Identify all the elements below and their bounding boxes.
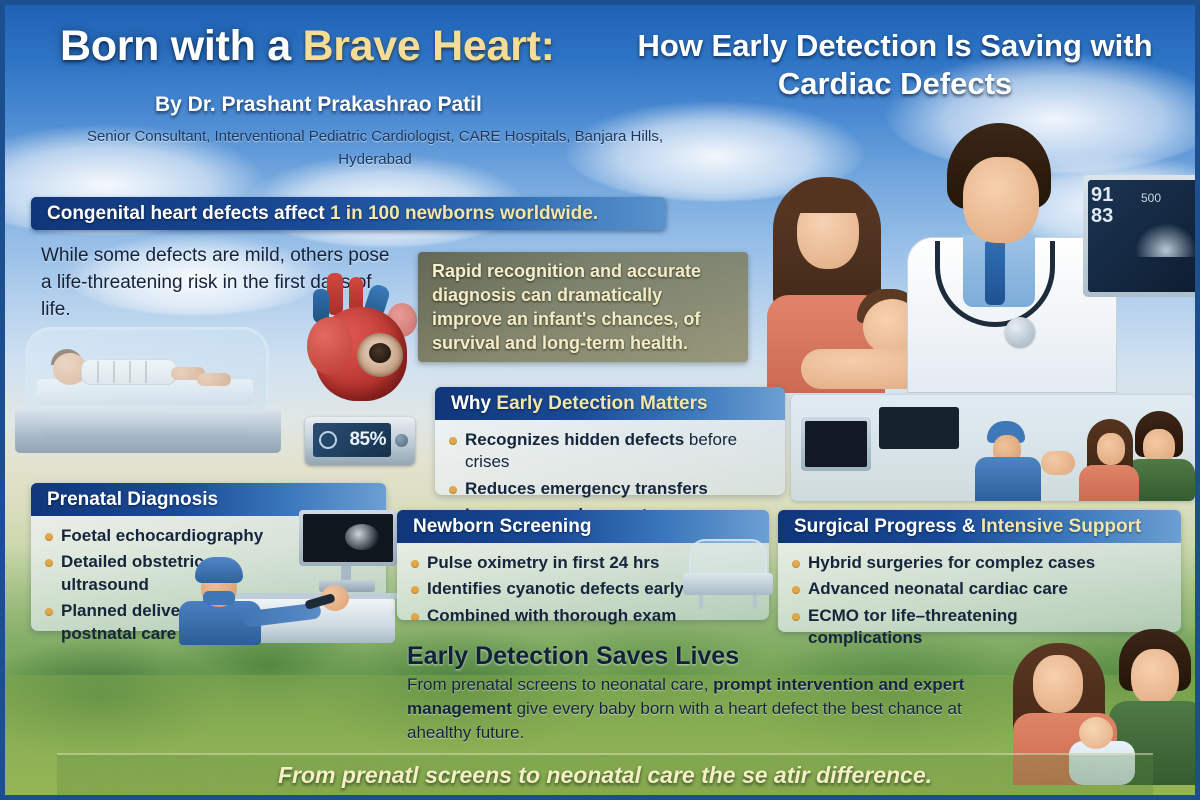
list-item: Reduces emergency transfers — [449, 478, 773, 500]
nicu-monitor-screen — [805, 421, 867, 467]
vitals-readouts: 91 83 — [1091, 185, 1113, 227]
surgical-mask-icon — [203, 591, 235, 605]
baby-head — [1079, 717, 1113, 749]
oximeter-screen: 85% — [313, 423, 391, 457]
saves-part1: From prenatal screens to neonatal care, — [407, 675, 713, 694]
oximeter-knob[interactable] — [395, 434, 408, 447]
mother-hair-front — [789, 179, 867, 213]
footer-text: From prenatl screens to neonatal care th… — [278, 762, 932, 789]
vitals-monitor: 91 83 500 — [1083, 175, 1200, 297]
bullet-dot-icon — [45, 559, 53, 567]
stat-part1: Congenital heart defects affect — [47, 203, 330, 224]
oximeter-value: 85% — [349, 429, 386, 451]
list-item: Recognizes hidden defects before crises — [449, 429, 773, 474]
surgical-progress-panel: Surgical Progress & Intensive Support Hy… — [778, 510, 1181, 632]
septal-defect-hole — [369, 343, 391, 363]
newborn-incubator-illustration — [683, 535, 775, 613]
incubator-illustration — [11, 327, 296, 457]
doctor-face — [963, 157, 1039, 243]
author-credentials: Senior Consultant, Interventional Pediat… — [65, 125, 685, 172]
surgical-title-plain: Surgical Progress & — [794, 516, 981, 537]
newborn-panel-title: Newborn Screening — [397, 516, 591, 538]
title-secondary: How Early Detection Is Saving with Cardi… — [635, 27, 1155, 103]
bullet-dot-icon — [411, 613, 419, 621]
vitals-aux-value: 500 — [1141, 191, 1161, 205]
title-main-accent: Brave Heart: — [302, 22, 554, 70]
nicu-scene-illustration — [791, 395, 1195, 501]
father-face — [1131, 649, 1179, 705]
anatomical-heart-illustration — [301, 273, 419, 405]
why-panel-header: Why Early Detection Matters — [435, 387, 785, 420]
rapid-recognition-callout: Rapid recognition and accurate diagnosis… — [418, 252, 748, 362]
surgical-cap-icon — [195, 557, 243, 583]
vitals-top-value: 91 — [1091, 185, 1113, 206]
incubator-dome — [25, 327, 269, 409]
why-title-accent: Early Detection Matters — [496, 393, 707, 414]
nicu-baby — [1041, 451, 1075, 475]
aorta-vessel — [327, 273, 343, 315]
bullet-dot-icon — [449, 437, 457, 445]
why-title-plain: Why — [451, 393, 496, 414]
nicu-mother-face — [1097, 433, 1125, 465]
list-item: Hybrid surgeries for complez cases — [792, 552, 1169, 574]
surgical-panel-header: Surgical Progress & Intensive Support — [778, 510, 1181, 543]
bullet-text: ECMO tor life–threatening complications — [808, 605, 1033, 650]
bullet-text: Hybrid surgeries for complez cases — [808, 552, 1095, 574]
stat-banner-text: Congenital heart defects affect 1 in 100… — [31, 203, 598, 225]
stat-highlight: 1 in 100 — [330, 203, 400, 224]
bullet-dot-icon — [792, 613, 800, 621]
bullet-dot-icon — [411, 586, 419, 594]
nicu-monitor — [801, 417, 871, 471]
stat-banner: Congenital heart defects affect 1 in 100… — [31, 197, 666, 230]
saves-lives-body: From prenatal screens to neonatal care, … — [407, 673, 1007, 745]
surgical-title-accent: Intensive Support — [981, 516, 1141, 537]
small-incubator-base — [683, 573, 773, 595]
title-main-white: Born with a — [60, 22, 302, 70]
bullet-bold: Recognizes hidden defects — [465, 430, 684, 449]
nicu-wall-monitor — [879, 407, 959, 449]
saves-lives-title: Early Detection Saves Lives — [407, 642, 739, 671]
why-panel-title: Why Early Detection Matters — [435, 393, 708, 415]
bullet-dot-icon — [792, 560, 800, 568]
vitals-bottom-value: 83 — [1091, 206, 1113, 227]
sonographer-scene-illustration — [173, 553, 398, 645]
prenatal-panel-title: Prenatal Diagnosis — [31, 489, 218, 511]
author-byline: By Dr. Prashant Prakashrao Patil — [155, 93, 482, 117]
bullet-text: Foetal echocardiography — [61, 525, 263, 547]
stat-part2: newborns worldwide. — [400, 203, 598, 224]
bullet-text: Pulse oximetry in first 24 hrs — [427, 552, 659, 574]
bullet-dot-icon — [411, 560, 419, 568]
small-incubator-dome — [689, 539, 767, 575]
pulse-oximeter-device: 85% — [305, 417, 415, 465]
ultrasound-waveform — [1135, 223, 1197, 257]
bullet-text: Recognizes hidden defects before crises — [465, 429, 773, 474]
bullet-dot-icon — [449, 486, 457, 494]
doctor-family-illustration: 91 83 500 — [767, 117, 1200, 393]
incubator-drawer — [43, 419, 249, 439]
nicu-mother-shirt — [1079, 465, 1139, 501]
list-item: Advanced neonatal cardiac care — [792, 578, 1169, 600]
mother-face — [1033, 655, 1083, 713]
bullet-text: Combined with thorough exam — [427, 605, 676, 627]
rapid-recognition-text: Rapid recognition and accurate diagnosis… — [432, 259, 736, 355]
fetal-scan-image — [345, 524, 379, 550]
stethoscope-bell-icon — [1005, 317, 1035, 347]
footer-banner: From prenatl screens to neonatal care th… — [57, 753, 1153, 797]
bullet-text: Reduces emergency transfers — [465, 478, 708, 500]
oxygen-saturation-icon — [319, 431, 337, 449]
bullet-dot-icon — [792, 586, 800, 594]
incubator-base — [15, 407, 281, 453]
infographic-poster: Born with a Brave Heart: How Early Detec… — [0, 0, 1200, 800]
bullet-text: Advanced neonatal cardiac care — [808, 578, 1068, 600]
bullet-bold: Reduces emergency transfers — [465, 479, 708, 498]
why-early-detection-panel: Why Early Detection Matters Recognizes h… — [435, 387, 785, 495]
heart-left-lobe — [307, 317, 353, 375]
nicu-nurse-body — [975, 457, 1041, 501]
bullet-dot-icon — [45, 533, 53, 541]
bullet-dot-icon — [45, 608, 53, 616]
rapid-lead: Rapid recognition — [432, 261, 585, 281]
surgical-panel-title: Surgical Progress & Intensive Support — [778, 516, 1141, 538]
small-incubator-legs — [699, 595, 757, 609]
bullet-text: Identifies cyanotic defects early — [427, 578, 684, 600]
